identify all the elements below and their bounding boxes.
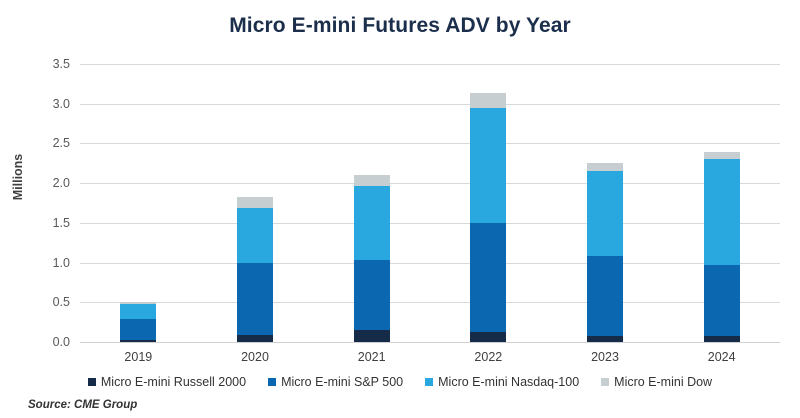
gridline	[80, 104, 780, 105]
gridline	[80, 302, 780, 303]
x-axis-tick-label: 2024	[672, 350, 772, 364]
y-axis-tick-label: 0.0	[10, 335, 70, 349]
legend-label: Micro E-mini Nasdaq-100	[438, 375, 579, 389]
bar-segment[interactable]	[587, 163, 623, 172]
legend-item[interactable]: Micro E-mini Russell 2000	[88, 375, 246, 389]
x-axis-tick-label: 2021	[322, 350, 422, 364]
bar-segment[interactable]	[587, 171, 623, 256]
legend-item[interactable]: Micro E-mini Dow	[601, 375, 712, 389]
y-axis-tick-label: 2.0	[10, 176, 70, 190]
gridline	[80, 64, 780, 65]
bar-segment[interactable]	[120, 302, 156, 304]
stacked-bar[interactable]	[120, 302, 156, 343]
bar-segment[interactable]	[354, 330, 390, 342]
stacked-bar[interactable]	[587, 163, 623, 343]
bar-segment[interactable]	[587, 336, 623, 342]
bar-segment[interactable]	[354, 186, 390, 261]
gridline	[80, 342, 780, 343]
legend-item[interactable]: Micro E-mini Nasdaq-100	[425, 375, 579, 389]
source-note: Source: CME Group	[28, 399, 137, 411]
y-axis-tick-label: 0.5	[10, 295, 70, 309]
bar-segment[interactable]	[704, 152, 740, 159]
x-axis-tick-label: 2023	[555, 350, 655, 364]
bar-segment[interactable]	[704, 265, 740, 336]
bar-segment[interactable]	[354, 175, 390, 185]
bar-segment[interactable]	[237, 335, 273, 342]
bar-group[interactable]: 2022	[470, 64, 506, 342]
legend-label: Micro E-mini Dow	[614, 375, 712, 389]
legend-label: Micro E-mini Russell 2000	[101, 375, 246, 389]
bar-segment[interactable]	[470, 332, 506, 342]
chart-title: Micro E-mini Futures ADV by Year	[0, 14, 800, 38]
bar-segment[interactable]	[470, 223, 506, 333]
legend-swatch-icon	[425, 378, 433, 386]
legend-swatch-icon	[88, 378, 96, 386]
y-axis-tick-label: 3.0	[10, 97, 70, 111]
x-axis-tick-label: 2020	[205, 350, 305, 364]
bar-segment[interactable]	[354, 260, 390, 330]
legend-label: Micro E-mini S&P 500	[281, 375, 403, 389]
gridline	[80, 263, 780, 264]
gridline	[80, 183, 780, 184]
stacked-bar[interactable]	[470, 93, 506, 342]
bar-segment[interactable]	[470, 108, 506, 223]
bar-segment[interactable]	[587, 256, 623, 335]
bar-segment[interactable]	[470, 93, 506, 107]
x-axis-tick-label: 2022	[438, 350, 538, 364]
bar-group[interactable]: 2021	[354, 64, 390, 342]
legend-item[interactable]: Micro E-mini S&P 500	[268, 375, 403, 389]
stacked-bar[interactable]	[237, 197, 273, 342]
stacked-bar[interactable]	[704, 152, 740, 342]
bar-segment[interactable]	[120, 340, 156, 342]
bar-segment[interactable]	[237, 197, 273, 208]
bar-segment[interactable]	[237, 208, 273, 264]
chart-legend: Micro E-mini Russell 2000Micro E-mini S&…	[0, 375, 800, 389]
bar-group[interactable]: 2020	[237, 64, 273, 342]
y-axis-tick-label: 1.5	[10, 216, 70, 230]
bar-group[interactable]: 2019	[120, 64, 156, 342]
bar-segment[interactable]	[120, 304, 156, 319]
bar-group[interactable]: 2023	[587, 64, 623, 342]
x-axis-tick-label: 2019	[88, 350, 188, 364]
legend-swatch-icon	[601, 378, 609, 386]
bar-segment[interactable]	[704, 336, 740, 342]
bar-group[interactable]: 2024	[704, 64, 740, 342]
stacked-bar[interactable]	[354, 175, 390, 342]
bar-segment[interactable]	[120, 319, 156, 340]
y-axis-tick-label: 1.0	[10, 256, 70, 270]
legend-swatch-icon	[268, 378, 276, 386]
bar-segment[interactable]	[704, 159, 740, 265]
gridline	[80, 223, 780, 224]
y-axis-tick-label: 3.5	[10, 57, 70, 71]
y-axis-tick-label: 2.5	[10, 136, 70, 150]
chart-figure: Micro E-mini Futures ADV by Year Million…	[0, 0, 800, 418]
bar-segment[interactable]	[237, 263, 273, 334]
gridline	[80, 143, 780, 144]
plot-area: 0.00.51.01.52.02.53.03.5 201920202021202…	[80, 64, 780, 342]
